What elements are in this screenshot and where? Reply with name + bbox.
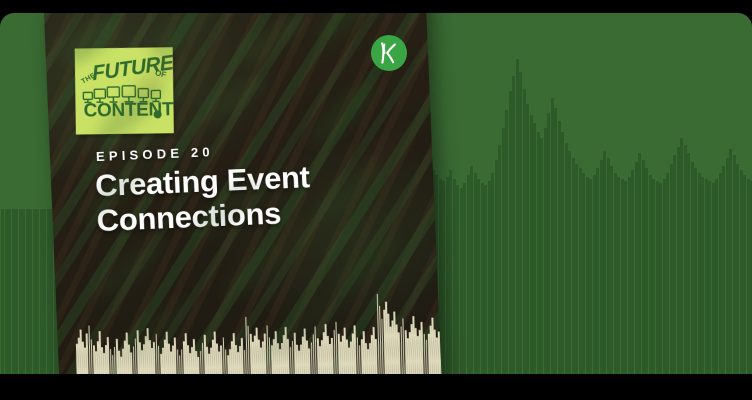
foreground-waveform: [75, 289, 433, 374]
foliage-texture-blob: [234, 13, 310, 73]
letterbox-bottom: [0, 375, 752, 400]
episode-number-label: EPISODE 20: [96, 144, 214, 164]
foliage-texture-blob: [198, 67, 271, 129]
episode-artwork: THE FUTURE OF: [0, 0, 752, 400]
artwork-canvas: THE FUTURE OF: [0, 13, 752, 374]
k-letter-icon: [378, 41, 400, 65]
foliage-texture-blob: [301, 72, 386, 153]
k-monogram-logo: [371, 35, 407, 71]
letterbox-top: [0, 0, 752, 13]
